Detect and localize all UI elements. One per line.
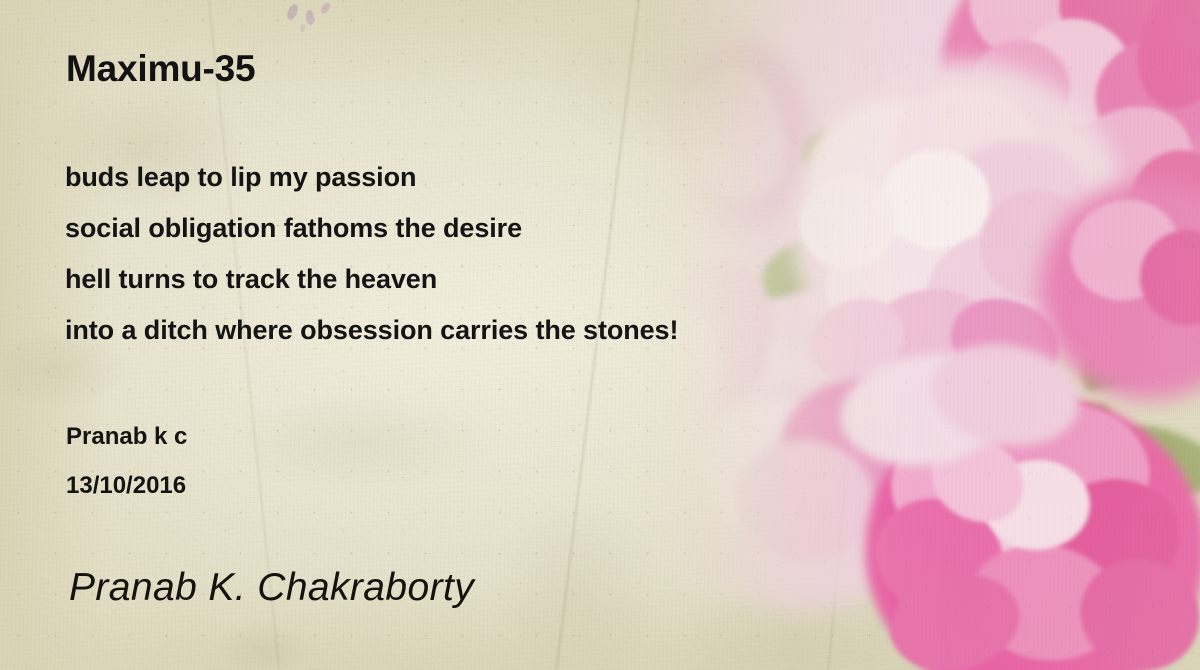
poem-title: Maximu-35	[66, 48, 255, 90]
author-signature: Pranab K. Chakraborty	[69, 566, 474, 610]
poem-line: social obligation fathoms the desire	[65, 203, 678, 254]
poem-line: hell turns to track the heaven	[65, 254, 678, 305]
byline-author: Pranab k c	[66, 412, 187, 461]
byline-date: 13/10/2016	[66, 461, 187, 510]
poem-line: buds leap to lip my passion	[65, 152, 678, 203]
poem-body: buds leap to lip my passion social oblig…	[65, 152, 678, 356]
text-layer: Maximu-35 buds leap to lip my passion so…	[0, 0, 1200, 670]
poem-line: into a ditch where obsession carries the…	[65, 305, 678, 356]
byline: Pranab k c 13/10/2016	[66, 412, 187, 510]
poem-card: Maximu-35 buds leap to lip my passion so…	[0, 0, 1200, 670]
